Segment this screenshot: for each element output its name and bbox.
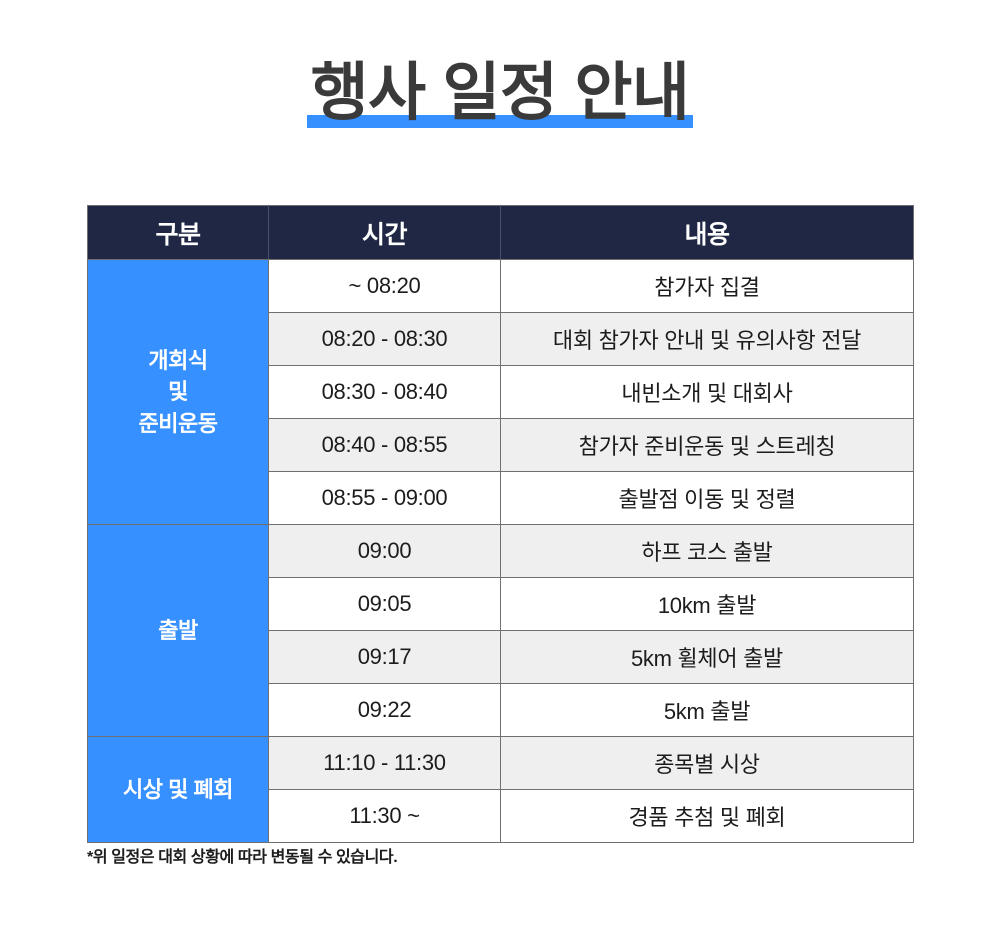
cell-content: 참가자 준비운동 및 스트레칭 [501, 419, 914, 472]
table-row: 개회식 및 준비운동 ~ 08:20 참가자 집결 [88, 260, 914, 313]
cell-time: 09:22 [269, 684, 501, 737]
cell-content: 10km 출발 [501, 578, 914, 631]
cell-content: 5km 휠체어 출발 [501, 631, 914, 684]
page-title: 행사 일정 안내 [311, 58, 690, 128]
cell-time: 09:17 [269, 631, 501, 684]
cell-content: 5km 출발 [501, 684, 914, 737]
section-label-line-1: 시상 및 폐회 [123, 777, 233, 802]
cell-time: 08:20 - 08:30 [269, 313, 501, 366]
column-header-group: 구분 [88, 206, 269, 260]
page-title-block: 행사 일정 안내 [0, 54, 1000, 133]
cell-content: 종목별 시상 [501, 737, 914, 790]
column-header-content: 내용 [501, 206, 914, 260]
section-label-awards: 시상 및 폐회 [88, 737, 269, 843]
footnote-text: *위 일정은 대회 상황에 따라 변동될 수 있습니다. [87, 843, 397, 867]
cell-time: 08:30 - 08:40 [269, 366, 501, 419]
table-row: 시상 및 폐회 11:10 - 11:30 종목별 시상 [88, 737, 914, 790]
cell-time: 09:00 [269, 525, 501, 578]
schedule-table: 구분 시간 내용 개회식 및 준비운동 ~ 08:20 참가자 집결 08:20… [87, 205, 914, 843]
title-inner: 행사 일정 안내 [307, 54, 694, 133]
cell-time: 08:40 - 08:55 [269, 419, 501, 472]
cell-content: 출발점 이동 및 정렬 [501, 472, 914, 525]
table-row: 출발 09:00 하프 코스 출발 [88, 525, 914, 578]
section-label-line-1: 출발 [158, 618, 197, 643]
cell-time: 11:30 ~ [269, 790, 501, 843]
section-label-opening: 개회식 및 준비운동 [88, 260, 269, 525]
cell-time: 11:10 - 11:30 [269, 737, 501, 790]
section-label-line-2: 및 [168, 379, 188, 404]
cell-content: 대회 참가자 안내 및 유의사항 전달 [501, 313, 914, 366]
section-label-start: 출발 [88, 525, 269, 737]
table-header-row: 구분 시간 내용 [88, 206, 914, 260]
table-header: 구분 시간 내용 [88, 206, 914, 260]
section-label-line-1: 개회식 [148, 348, 207, 373]
table-body: 개회식 및 준비운동 ~ 08:20 참가자 집결 08:20 - 08:30 … [88, 260, 914, 843]
cell-content: 하프 코스 출발 [501, 525, 914, 578]
cell-time: 08:55 - 09:00 [269, 472, 501, 525]
cell-time: ~ 08:20 [269, 260, 501, 313]
cell-content: 내빈소개 및 대회사 [501, 366, 914, 419]
section-label-line-3: 준비운동 [139, 411, 218, 436]
column-header-time: 시간 [269, 206, 501, 260]
cell-content: 경품 추첨 및 폐회 [501, 790, 914, 843]
cell-content: 참가자 집결 [501, 260, 914, 313]
cell-time: 09:05 [269, 578, 501, 631]
